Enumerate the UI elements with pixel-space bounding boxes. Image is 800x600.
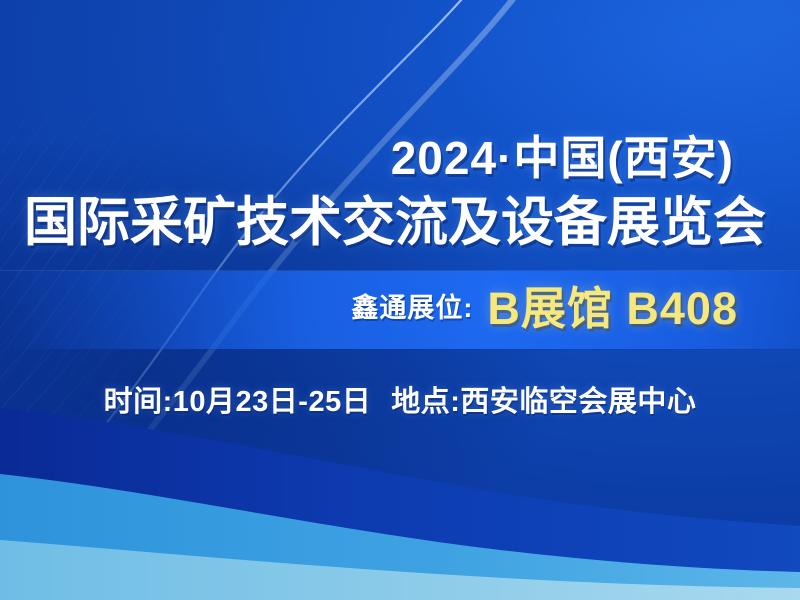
- event-venue: 地点:西安临空会展中心: [391, 386, 696, 418]
- booth-line: 鑫通展位:B展馆 B408: [0, 286, 738, 331]
- event-date: 时间:10月23日-25日: [104, 386, 372, 418]
- booth-label: 鑫通展位:: [351, 293, 473, 323]
- exhibition-banner: 2024·中国(西安) 国际采矿技术交流及设备展览会 鑫通展位:B展馆 B408…: [0, 0, 800, 600]
- booth-number: B展馆 B408: [487, 283, 738, 334]
- year-location-heading: 2024·中国(西安): [0, 122, 734, 188]
- event-meta-line: 时间:10月23日-25日地点:西安临空会展中心: [0, 378, 800, 420]
- banner-content: 2024·中国(西安) 国际采矿技术交流及设备展览会 鑫通展位:B展馆 B408…: [0, 0, 800, 600]
- exhibition-title: 国际采矿技术交流及设备展览会: [24, 180, 738, 256]
